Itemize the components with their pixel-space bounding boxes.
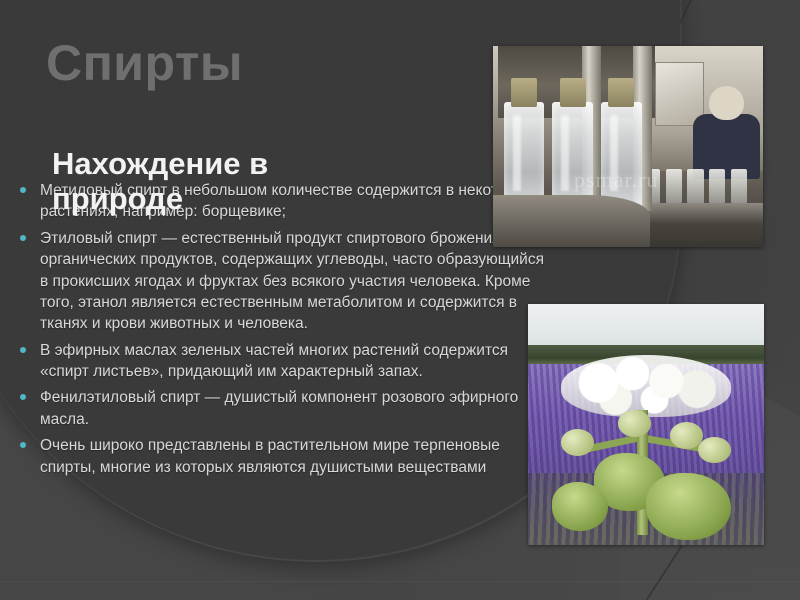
bullet-dot-icon <box>20 187 26 193</box>
list-item: Очень широко представлены в растительном… <box>14 435 544 478</box>
photo-machine-base <box>493 195 650 247</box>
photo-conveyor <box>633 203 763 223</box>
bullet-dot-icon <box>20 347 26 353</box>
photo-bottle <box>601 102 642 211</box>
photo-hogweed-leaf <box>552 482 609 530</box>
bullet-dot-icon <box>20 235 26 241</box>
background-hairline <box>0 581 800 582</box>
hogweed-field-photo <box>528 304 764 545</box>
slide-subtitle: Нахождение в природе <box>52 146 352 217</box>
list-item-text: Очень широко представлены в растительном… <box>40 437 500 475</box>
list-item-text: Фенилэтиловый спирт — душистый компонент… <box>40 389 518 427</box>
photo-hogweed-bud <box>698 437 731 464</box>
photo-small-bottle <box>731 169 747 203</box>
photo-small-bottle <box>687 169 703 203</box>
photo-hogweed-leaf <box>646 473 731 540</box>
bullet-dot-icon <box>20 442 26 448</box>
list-item-text: В эфирных маслах зеленых частей многих р… <box>40 342 508 380</box>
presentation-slide: Спирты Метиловый спирт в небольшом колич… <box>0 0 800 600</box>
photo-hogweed-umbel <box>561 355 731 418</box>
list-item: Этиловый спирт — естественный продукт сп… <box>14 228 544 335</box>
list-item-text: Этиловый спирт — естественный продукт сп… <box>40 230 544 333</box>
bottling-line-photo: psmar.ru <box>493 46 763 247</box>
list-item: Фенилэтиловый спирт — душистый компонент… <box>14 387 544 430</box>
list-item: В эфирных маслах зеленых частей многих р… <box>14 340 544 383</box>
bullet-list: Метиловый спирт в небольшом количестве с… <box>14 180 544 483</box>
photo-small-bottle <box>666 169 682 203</box>
photo-small-bottle <box>709 169 725 203</box>
bullet-dot-icon <box>20 394 26 400</box>
photo-hogweed-bud <box>618 410 651 437</box>
photo-hogweed-bud <box>670 422 703 449</box>
photo-watermark: psmar.ru <box>574 167 658 193</box>
slide-title: Спирты <box>46 38 243 88</box>
photo-worker-head <box>709 86 744 120</box>
photo-hogweed-bud <box>561 429 594 456</box>
